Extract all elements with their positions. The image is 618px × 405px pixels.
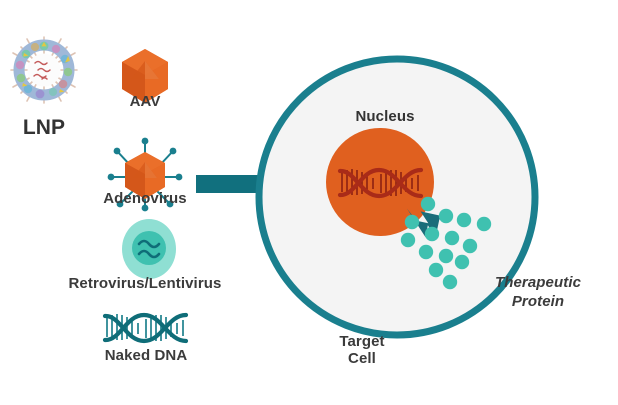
protein-dot-icon	[419, 245, 433, 259]
protein-dot-icon	[445, 231, 459, 245]
protein-dot-icon	[455, 255, 469, 269]
protein-dot-icon	[401, 233, 415, 247]
lipid-nanoparticle-icon	[8, 34, 80, 106]
nucleus-label: Nucleus	[330, 108, 440, 125]
protein-dot-icon	[421, 197, 435, 211]
protein-dot-icon	[425, 227, 439, 241]
protein-dot-icon	[429, 263, 443, 277]
dna-helix-icon	[100, 310, 192, 346]
protein-dot-icon	[463, 239, 477, 253]
protein-dot-icon	[457, 213, 471, 227]
protein-dot-icon	[405, 215, 419, 229]
adenovirus-label: Adenovirus	[80, 190, 210, 207]
naked-dna-label: Naked DNA	[85, 347, 207, 364]
lnp-label: LNP	[4, 116, 84, 140]
protein-dot-icon	[443, 275, 457, 289]
therapeutic-protein-label: Therapeutic Protein	[472, 274, 604, 312]
protein-dot-icon	[439, 209, 453, 223]
protein-dot-icon	[477, 217, 491, 231]
retrovirus-particle-icon	[120, 218, 178, 280]
target-cell-label-line1: Target	[312, 333, 412, 350]
aav-label: AAV	[95, 93, 195, 110]
therapeutic-protein-line2: Protein	[472, 293, 604, 312]
retrovirus-lentivirus-label: Retrovirus/Lentivirus	[35, 275, 255, 292]
therapeutic-protein-line1: Therapeutic	[472, 274, 604, 293]
target-cell-label: Target Cell	[312, 333, 412, 368]
protein-dot-icon	[439, 249, 453, 263]
target-cell-label-line2: Cell	[312, 350, 412, 367]
gene-therapy-diagram: LNP AAV	[0, 0, 618, 405]
